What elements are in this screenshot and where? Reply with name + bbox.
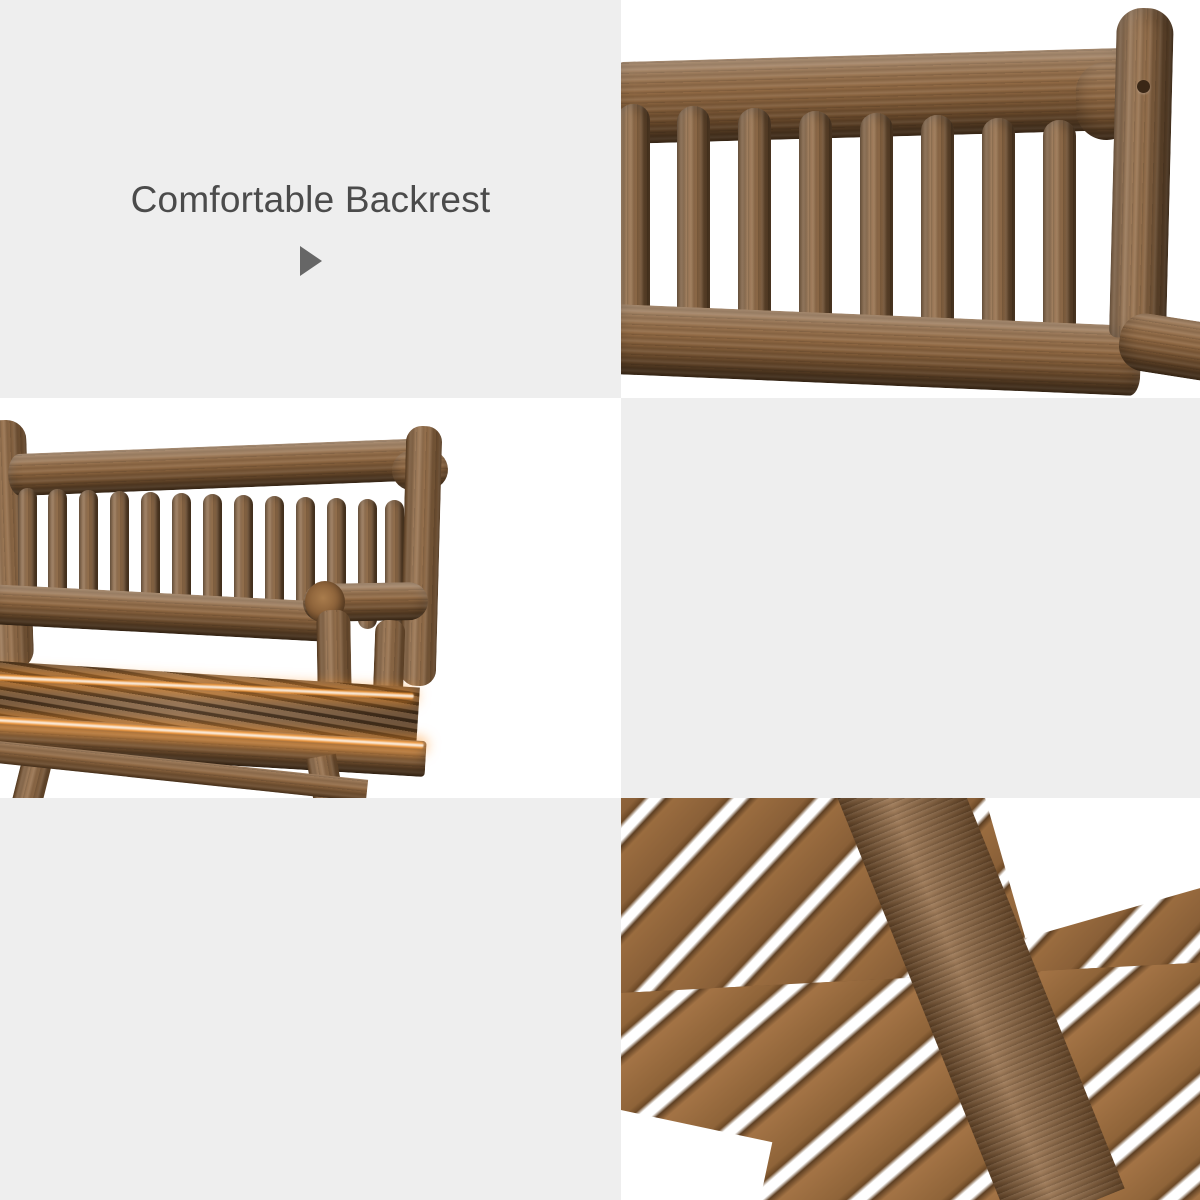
caption-title-comfortable-backrest: Comfortable Backrest <box>0 178 621 222</box>
caption-arrow-backrest <box>0 246 621 276</box>
garden-bench-photo <box>0 398 621 798</box>
bench-backrest-photo <box>621 0 1200 398</box>
caption-block-backrest: Comfortable Backrest <box>0 178 621 276</box>
backrest-slat <box>921 115 954 351</box>
backrest-slat <box>677 106 710 338</box>
photo-panel-bench <box>0 398 621 798</box>
post-screw-hole-icon <box>1137 80 1150 93</box>
backrest-slat <box>799 111 832 343</box>
panel-comfortable-backrest: Comfortable Backrest <box>0 0 621 398</box>
backrest-side-post <box>1109 7 1174 338</box>
backrest-slat <box>738 108 771 340</box>
triangle-right-icon <box>300 246 322 276</box>
slat-surface-photo <box>621 798 1200 1200</box>
product-feature-collage: Comfortable Backrest <box>0 0 1200 1200</box>
bench-right-back-post <box>400 426 443 687</box>
backrest-slat <box>621 104 650 336</box>
backrest-slat <box>860 113 893 347</box>
panel-wide-curved-seat: Wide Curved Seat <box>621 398 1200 798</box>
photo-panel-backrest <box>621 0 1200 398</box>
bench-backrest-top-rail <box>7 438 440 497</box>
photo-panel-slats <box>621 798 1200 1200</box>
panel-slat-design: Slat Design <box>0 798 621 1200</box>
